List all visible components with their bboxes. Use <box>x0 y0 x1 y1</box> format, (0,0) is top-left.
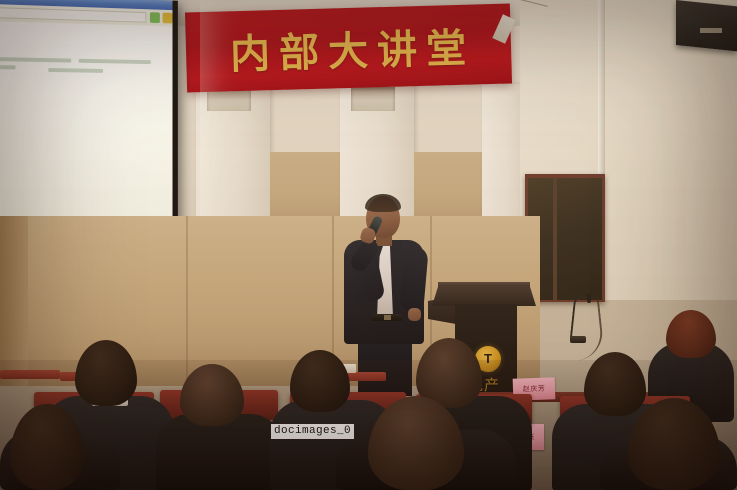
wall-wood-panel <box>270 152 340 220</box>
address-field[interactable] <box>0 7 146 23</box>
lecture-hall-photo: 内部大讲堂 节 1 页 中文(中国) 开 <box>0 0 737 490</box>
presenter-left-hand <box>408 308 421 321</box>
microphone-base <box>570 336 586 343</box>
seat-rail <box>0 370 60 379</box>
event-banner: 内部大讲堂 <box>185 3 512 92</box>
presenter-left-arm <box>399 245 429 313</box>
doc-text-line <box>0 57 71 62</box>
microphone-head <box>587 294 591 303</box>
wall-niche <box>351 87 395 111</box>
doc-text-line <box>0 65 15 69</box>
audience-head <box>666 310 716 358</box>
banner-title: 内部大讲堂 <box>221 15 476 80</box>
star-icon[interactable] <box>163 13 173 24</box>
doc-text-line <box>79 59 151 64</box>
presenter-belt-buckle <box>384 315 391 320</box>
presenter-hair <box>365 194 401 212</box>
window-mullion <box>553 178 557 300</box>
wall-speaker-icon <box>676 0 737 51</box>
speaker-badge <box>700 28 722 33</box>
go-icon[interactable] <box>150 12 160 23</box>
podium-top <box>432 286 536 306</box>
wall-pilaster <box>196 84 270 220</box>
watermark-label: docimages_0 <box>271 424 354 439</box>
placard-name: 赵庆芳 <box>523 384 546 395</box>
doc-text-line <box>48 68 103 73</box>
